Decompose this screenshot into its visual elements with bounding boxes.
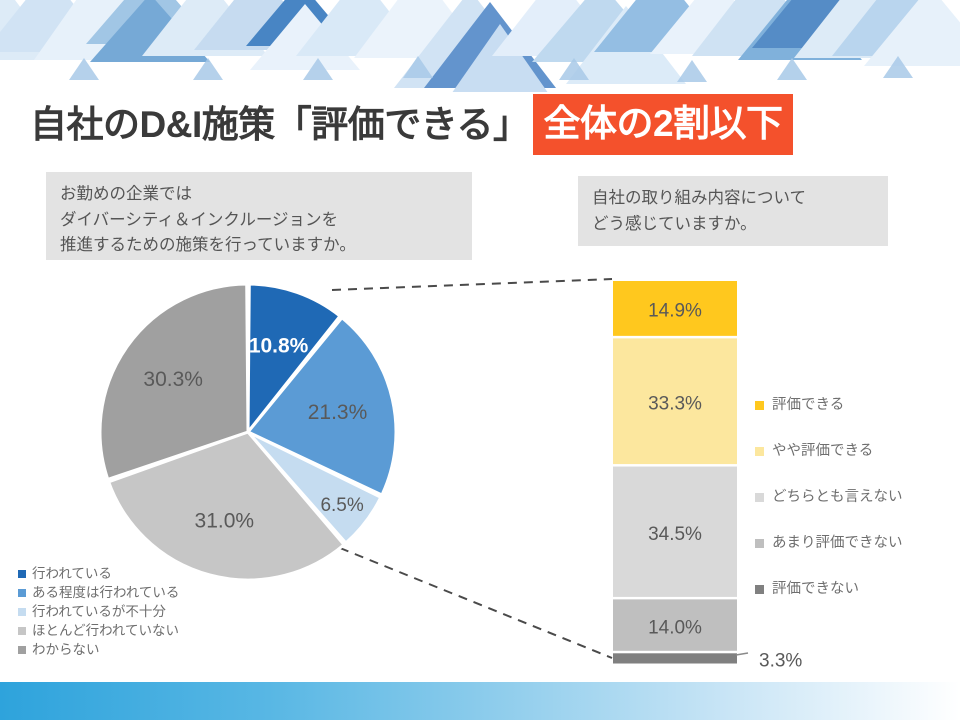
bar-legend-item[interactable]: 評価できる xyxy=(755,382,903,428)
question-box-left: お勤めの企業では ダイバーシティ＆インクルージョンを 推進するための施策を行って… xyxy=(46,172,472,260)
stacked-bar-segment-label: 14.9% xyxy=(648,301,702,322)
pie-slice-label: 30.3% xyxy=(143,368,203,391)
legend-label: 評価できる xyxy=(772,396,844,414)
bar-legend-item[interactable]: あまり評価できない xyxy=(755,520,903,566)
pie-legend-item[interactable]: ある程度は行われている xyxy=(18,584,179,601)
legend-swatch-icon xyxy=(755,539,764,548)
pie-legend-item[interactable]: ほとんど行われていない xyxy=(18,622,179,639)
question-box-right: 自社の取り組み内容について どう感じていますか。 xyxy=(578,176,888,246)
legend-label: 行われているが不十分 xyxy=(32,603,166,620)
title-text: 自社のD&I施策「評価できる」 xyxy=(30,106,529,143)
legend-label: あまり評価できない xyxy=(772,534,903,552)
callout-line-bottom xyxy=(340,548,612,658)
pie-slice xyxy=(109,432,344,580)
pie-slice-label: 6.5% xyxy=(320,495,363,516)
stacked-bar-segment xyxy=(613,467,737,597)
legend-label: ある程度は行われている xyxy=(32,584,179,601)
callout-connector-lines xyxy=(332,279,612,658)
stacked-bar-chart xyxy=(613,281,737,664)
bar-legend-item[interactable]: やや評価できる xyxy=(755,428,903,474)
legend-swatch-icon xyxy=(18,589,26,597)
legend-swatch-icon xyxy=(755,401,764,410)
legend-label: ほとんど行われていない xyxy=(32,622,179,639)
legend-swatch-icon xyxy=(18,627,26,635)
header-decoration xyxy=(0,0,960,92)
legend-label: 評価できない xyxy=(772,580,859,598)
small-segment-leader-line xyxy=(736,653,748,655)
pie-slice xyxy=(100,284,248,479)
pie-chart xyxy=(100,284,396,580)
legend-label: やや評価できる xyxy=(772,442,873,460)
bar-legend: 評価できるやや評価できるどちらとも言えないあまり評価できない評価できない xyxy=(755,382,903,612)
legend-swatch-icon xyxy=(755,493,764,502)
pie-slice-label: 10.8% xyxy=(249,335,309,358)
legend-label: 行われている xyxy=(32,565,112,582)
pie-slice xyxy=(248,318,396,495)
callout-line-top xyxy=(332,279,612,290)
pie-legend-item[interactable]: わからない xyxy=(18,641,179,658)
slide-canvas: 自社のD&I施策「評価できる」 全体の2割以下 お勤めの企業では ダイバーシティ… xyxy=(0,0,960,720)
pie-slice-labels: 10.8%21.3%6.5%31.0%30.3% xyxy=(143,335,367,533)
triangle-pattern-icon xyxy=(0,0,960,92)
pie-legend-item[interactable]: 行われているが不十分 xyxy=(18,603,179,620)
pie-legend-item[interactable]: 行われている xyxy=(18,565,179,582)
page-title: 自社のD&I施策「評価できる」 全体の2割以下 xyxy=(30,96,940,152)
pie-slice xyxy=(248,432,381,543)
bar-legend-item[interactable]: 評価できない xyxy=(755,566,903,612)
bar-legend-item[interactable]: どちらとも言えない xyxy=(755,474,903,520)
stacked-bar-segment-label: 14.0% xyxy=(648,617,702,638)
legend-label: わからない xyxy=(32,641,100,658)
stacked-bar-segment-label: 33.3% xyxy=(648,394,702,415)
stacked-bar-segment xyxy=(613,281,737,336)
stacked-bar-segment-label: 3.3% xyxy=(759,651,802,672)
title-highlight-badge: 全体の2割以下 xyxy=(533,94,792,155)
pie-slice-label: 21.3% xyxy=(308,401,368,424)
stacked-bar-segment-label: 34.5% xyxy=(648,524,702,545)
stacked-bar-segment xyxy=(613,338,737,464)
stacked-bar-segment xyxy=(613,599,737,650)
pie-slice xyxy=(248,284,340,432)
legend-swatch-icon xyxy=(755,447,764,456)
stacked-bar-segment xyxy=(613,653,737,663)
footer-gradient-bar xyxy=(0,682,960,720)
legend-swatch-icon xyxy=(18,570,26,578)
legend-label: どちらとも言えない xyxy=(772,488,903,506)
pie-legend: 行われているある程度は行われている行われているが不十分ほとんど行われていないわか… xyxy=(18,565,179,660)
legend-swatch-icon xyxy=(755,585,764,594)
pie-slice-label: 31.0% xyxy=(195,510,255,533)
legend-swatch-icon xyxy=(18,646,26,654)
legend-swatch-icon xyxy=(18,608,26,616)
